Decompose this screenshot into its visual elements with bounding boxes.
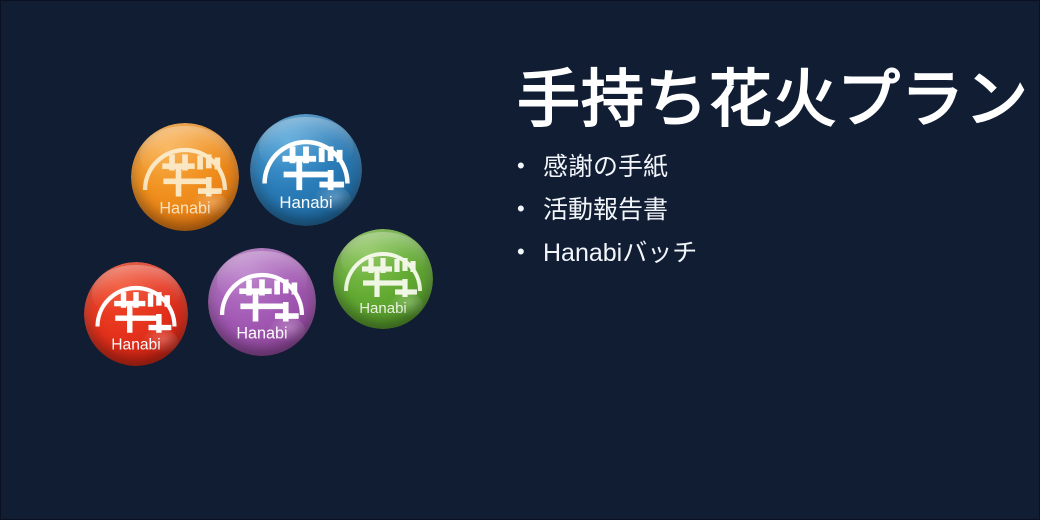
bullet-item-1: • 感謝の手紙 [517, 155, 1017, 180]
badge-orange-rim [131, 123, 239, 231]
slide-text-column: 手持ち花火プラン • 感謝の手紙 • 活動報告書 • Hanabiバッチ [517, 67, 1017, 284]
badge-green: Hanabi [333, 229, 433, 329]
badge-orange: Hanabi [131, 123, 239, 231]
badge-purple-rim [208, 248, 316, 356]
badge-blue-rim [250, 114, 362, 226]
bullet-label-3: Hanabiバッチ [543, 241, 697, 266]
slide-bullet-list: • 感謝の手紙 • 活動報告書 • Hanabiバッチ [517, 155, 1017, 266]
badge-blue: Hanabi [250, 114, 362, 226]
bullet-item-3: • Hanabiバッチ [517, 241, 1017, 266]
hanabi-badge-photo-group: Hanabi [61, 81, 481, 411]
presentation-slide: Hanabi [0, 0, 1040, 520]
bullet-dot-icon: • [517, 241, 543, 263]
slide-title: 手持ち花火プラン [517, 67, 1017, 133]
badge-purple: Hanabi [208, 248, 316, 356]
badge-green-rim [333, 229, 433, 329]
bullet-dot-icon: • [517, 155, 543, 177]
badge-red-rim [84, 262, 188, 366]
badge-red: Hanabi [84, 262, 188, 366]
bullet-label-1: 感謝の手紙 [543, 155, 668, 180]
bullet-label-2: 活動報告書 [543, 198, 668, 223]
bullet-item-2: • 活動報告書 [517, 198, 1017, 223]
bullet-dot-icon: • [517, 198, 543, 220]
